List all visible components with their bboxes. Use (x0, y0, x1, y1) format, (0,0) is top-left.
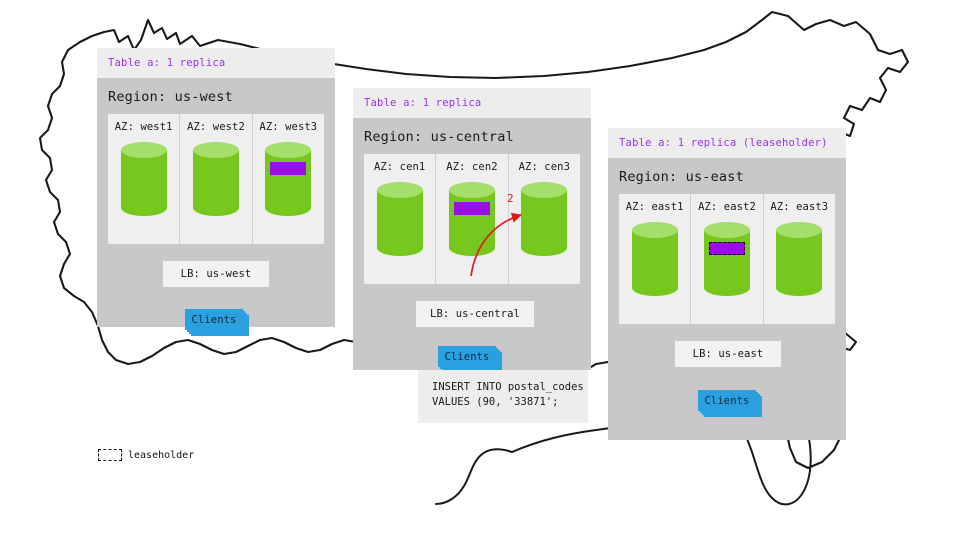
node-cylinder-cen2[interactable] (449, 182, 495, 256)
region-panel-us-central: Table a: 1 replica Region: us-central AZ… (353, 88, 591, 370)
region-header-us-central: Table a: 1 replica (353, 88, 591, 118)
legend-label: leaseholder (128, 450, 194, 461)
load-balancer-us-west[interactable]: LB: us-west (163, 261, 269, 287)
cylinder-body (193, 150, 239, 208)
region-title-us-east: Region: us-east (608, 158, 846, 194)
region-title-us-west: Region: us-west (97, 78, 335, 114)
cylinder-top (449, 182, 495, 198)
cylinder-body (449, 190, 495, 248)
replica-marker-cen2 (454, 202, 490, 215)
clients-stack-us-east[interactable]: Clients (698, 390, 760, 413)
az-strip-us-west: AZ: west1 AZ: west2 (108, 114, 324, 244)
az-label-cen1: AZ: cen1 (374, 161, 425, 173)
az-cell-east1[interactable]: AZ: east1 (619, 194, 690, 324)
clients-stack-us-west[interactable]: Clients (185, 309, 247, 332)
node-cylinder-west2[interactable] (193, 142, 239, 216)
region-header-us-west: Table a: 1 replica (97, 48, 335, 78)
legend: leaseholder (98, 449, 194, 461)
az-label-cen2: AZ: cen2 (446, 161, 497, 173)
node-cylinder-east1[interactable] (632, 222, 678, 296)
node-cylinder-east3[interactable] (776, 222, 822, 296)
load-balancer-label: LB: us-east (693, 348, 764, 360)
region-title-us-central: Region: us-central (353, 118, 591, 154)
node-cylinder-cen3[interactable] (521, 182, 567, 256)
az-cell-east2[interactable]: AZ: east2 (690, 194, 762, 324)
az-cell-east3[interactable]: AZ: east3 (763, 194, 835, 324)
cylinder-top (265, 142, 311, 158)
node-cylinder-west3[interactable] (265, 142, 311, 216)
az-cell-cen3[interactable]: AZ: cen3 (508, 154, 580, 284)
az-cell-west3[interactable]: AZ: west3 (252, 114, 324, 244)
az-label-cen3: AZ: cen3 (519, 161, 570, 173)
load-balancer-label: LB: us-central (430, 308, 520, 320)
region-panel-us-east: Table a: 1 replica (leaseholder) Region:… (608, 128, 846, 440)
clients-label: Clients (698, 390, 756, 411)
routing-arrow-label-2: 2 (507, 192, 514, 205)
az-label-east1: AZ: east1 (626, 201, 684, 213)
cylinder-body (521, 190, 567, 248)
region-panel-us-west: Table a: 1 replica Region: us-west AZ: w… (97, 48, 335, 327)
az-label-east3: AZ: east3 (770, 201, 828, 213)
clients-label: Clients (438, 346, 496, 367)
az-strip-us-central: AZ: cen1 AZ: cen2 (364, 154, 580, 284)
cylinder-body (377, 190, 423, 248)
cylinder-body (121, 150, 167, 208)
az-label-west2: AZ: west2 (187, 121, 245, 133)
cylinder-top (776, 222, 822, 238)
load-balancer-us-east[interactable]: LB: us-east (675, 341, 781, 367)
diagram-canvas: Table a: 1 replica Region: us-west AZ: w… (0, 0, 960, 540)
node-cylinder-cen1[interactable] (377, 182, 423, 256)
cylinder-top (704, 222, 750, 238)
load-balancer-us-central[interactable]: LB: us-central (416, 301, 534, 327)
az-label-west3: AZ: west3 (259, 121, 317, 133)
leaseholder-swatch-icon (98, 449, 122, 461)
cylinder-body (265, 150, 311, 208)
az-cell-west2[interactable]: AZ: west2 (179, 114, 251, 244)
cylinder-top (121, 142, 167, 158)
az-cell-west1[interactable]: AZ: west1 (108, 114, 179, 244)
az-cell-cen1[interactable]: AZ: cen1 (364, 154, 435, 284)
node-cylinder-east2[interactable] (704, 222, 750, 296)
cylinder-body (776, 230, 822, 288)
cylinder-top (521, 182, 567, 198)
az-strip-us-east: AZ: east1 AZ: east2 (619, 194, 835, 324)
region-header-us-east: Table a: 1 replica (leaseholder) (608, 128, 846, 158)
load-balancer-label: LB: us-west (181, 268, 252, 280)
cylinder-body (704, 230, 750, 288)
az-label-east2: AZ: east2 (698, 201, 756, 213)
cylinder-top (193, 142, 239, 158)
node-cylinder-west1[interactable] (121, 142, 167, 216)
replica-marker-west3 (270, 162, 306, 175)
cylinder-body (632, 230, 678, 288)
clients-stack-us-central[interactable]: Clients (438, 346, 500, 369)
az-cell-cen2[interactable]: AZ: cen2 (435, 154, 507, 284)
az-label-west1: AZ: west1 (115, 121, 173, 133)
sql-statement-box: INSERT INTO postal_codes VALUES (90, '33… (418, 370, 588, 423)
cylinder-top (632, 222, 678, 238)
cylinder-top (377, 182, 423, 198)
replica-marker-leaseholder-east2 (709, 242, 745, 255)
clients-label: Clients (185, 309, 243, 330)
